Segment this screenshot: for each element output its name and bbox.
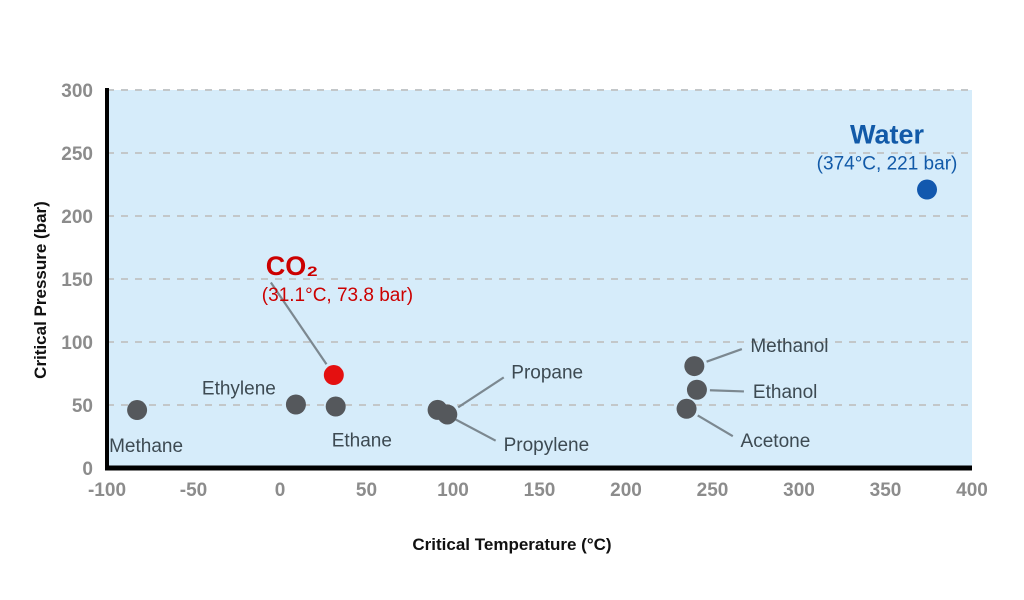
- point-label-propylene: Propylene: [504, 435, 590, 456]
- x-tick-label: 400: [956, 480, 988, 501]
- x-tick-label: 200: [610, 480, 642, 501]
- x-tick-label: 50: [356, 480, 377, 501]
- data-point-co2[interactable]: [324, 365, 344, 385]
- x-tick-label: 300: [783, 480, 815, 501]
- x-tick-label: 100: [437, 480, 469, 501]
- highlight-value-co2: (31.1°C, 73.8 bar): [262, 285, 413, 306]
- data-point-methane[interactable]: [127, 400, 147, 420]
- data-point-methanol[interactable]: [684, 356, 704, 376]
- critical-point-scatter-chart: 050100150200250300 -100-5005010015020025…: [0, 0, 1024, 600]
- x-tick-label: 350: [870, 480, 902, 501]
- point-label-ethane: Ethane: [332, 431, 392, 452]
- y-tick-label: 100: [61, 333, 93, 354]
- data-point-ethanol[interactable]: [687, 380, 707, 400]
- leader-line: [710, 390, 744, 391]
- point-label-propane: Propane: [511, 362, 583, 383]
- point-label-acetone: Acetone: [741, 431, 811, 452]
- y-tick-label: 200: [61, 207, 93, 228]
- y-tick-label: 0: [82, 459, 93, 480]
- x-tick-label: 0: [275, 480, 286, 501]
- x-tick-label: -100: [88, 480, 126, 501]
- highlight-label-water: Water: [850, 120, 925, 150]
- y-axis-title: Critical Pressure (bar): [31, 201, 50, 379]
- data-point-propylene[interactable]: [428, 400, 448, 420]
- data-point-ethylene[interactable]: [286, 394, 306, 414]
- x-tick-label: 250: [697, 480, 729, 501]
- highlight-value-water: (374°C, 221 bar): [817, 154, 958, 175]
- point-label-ethylene: Ethylene: [202, 378, 276, 399]
- x-tick-label: -50: [180, 480, 207, 501]
- y-tick-label: 250: [61, 144, 93, 165]
- point-label-ethanol: Ethanol: [753, 382, 817, 403]
- data-point-ethane[interactable]: [326, 397, 346, 417]
- data-point-acetone[interactable]: [677, 399, 697, 419]
- chart-svg: 050100150200250300 -100-5005010015020025…: [0, 0, 1024, 600]
- point-label-methane: Methane: [109, 436, 183, 457]
- x-tick-label: 150: [524, 480, 556, 501]
- y-tick-label: 300: [61, 81, 93, 102]
- x-axis-title: Critical Temperature (°C): [412, 535, 611, 554]
- point-label-methanol: Methanol: [750, 336, 828, 357]
- data-point-water[interactable]: [917, 180, 937, 200]
- y-tick-label: 150: [61, 270, 93, 291]
- y-tick-label: 50: [72, 396, 93, 417]
- highlight-label-co2: CO₂: [266, 251, 319, 281]
